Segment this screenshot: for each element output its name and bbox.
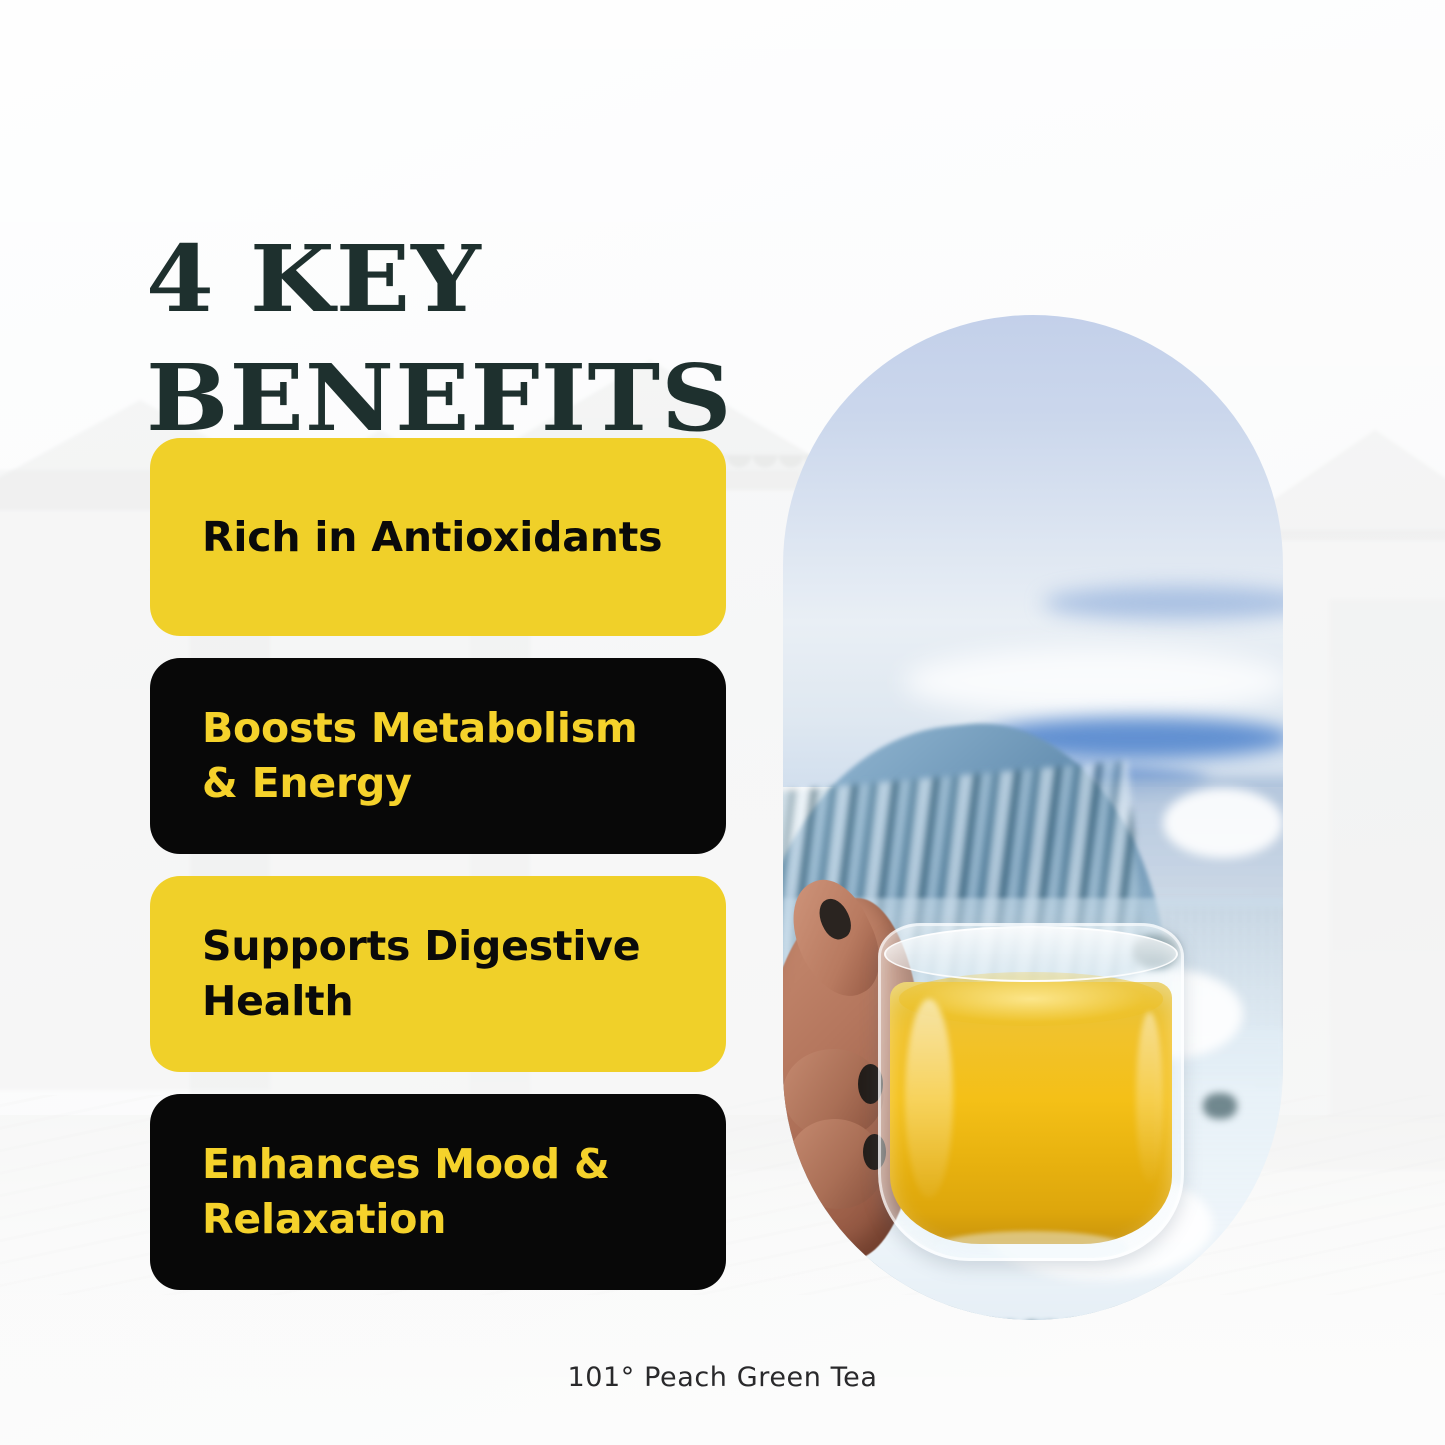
benefit-label-2: Boosts Metabolism & Energy (202, 701, 682, 811)
photo-cup-highlight-left (905, 999, 953, 1198)
photo-snow-clump-4 (1163, 788, 1283, 858)
benefit-card-3[interactable]: Supports Digestive Health (150, 876, 726, 1072)
photo-cup-highlight-right (1136, 1012, 1163, 1184)
photo-dark-foliage-3 (1203, 1093, 1237, 1119)
page-title-line-1: 4 KEY (146, 220, 803, 340)
benefit-label-3: Supports Digestive Health (202, 919, 682, 1029)
benefit-card-4[interactable]: Enhances Mood & Relaxation (150, 1094, 726, 1290)
photo-cloud-1 (903, 647, 1283, 717)
photo-cup-rim (884, 926, 1178, 982)
photo-cup-base (935, 1231, 1127, 1261)
benefit-label-4: Enhances Mood & Relaxation (202, 1137, 682, 1247)
benefit-label-1: Rich in Antioxidants (202, 510, 662, 565)
product-caption: 101° Peach Green Tea (0, 1362, 1445, 1393)
benefit-card-2[interactable]: Boosts Metabolism & Energy (150, 658, 726, 854)
photo-sky (783, 315, 1283, 787)
page-title: 4 KEY BENEFITS (146, 220, 803, 459)
product-photo (783, 315, 1283, 1320)
benefits-list: Rich in Antioxidants Boosts Metabolism &… (150, 438, 726, 1290)
benefit-card-1[interactable]: Rich in Antioxidants (150, 438, 726, 636)
photo-glass-cup (878, 923, 1184, 1261)
benefits-poster: 4 KEY BENEFITS Rich in Antioxidants Boos… (0, 0, 1445, 1445)
